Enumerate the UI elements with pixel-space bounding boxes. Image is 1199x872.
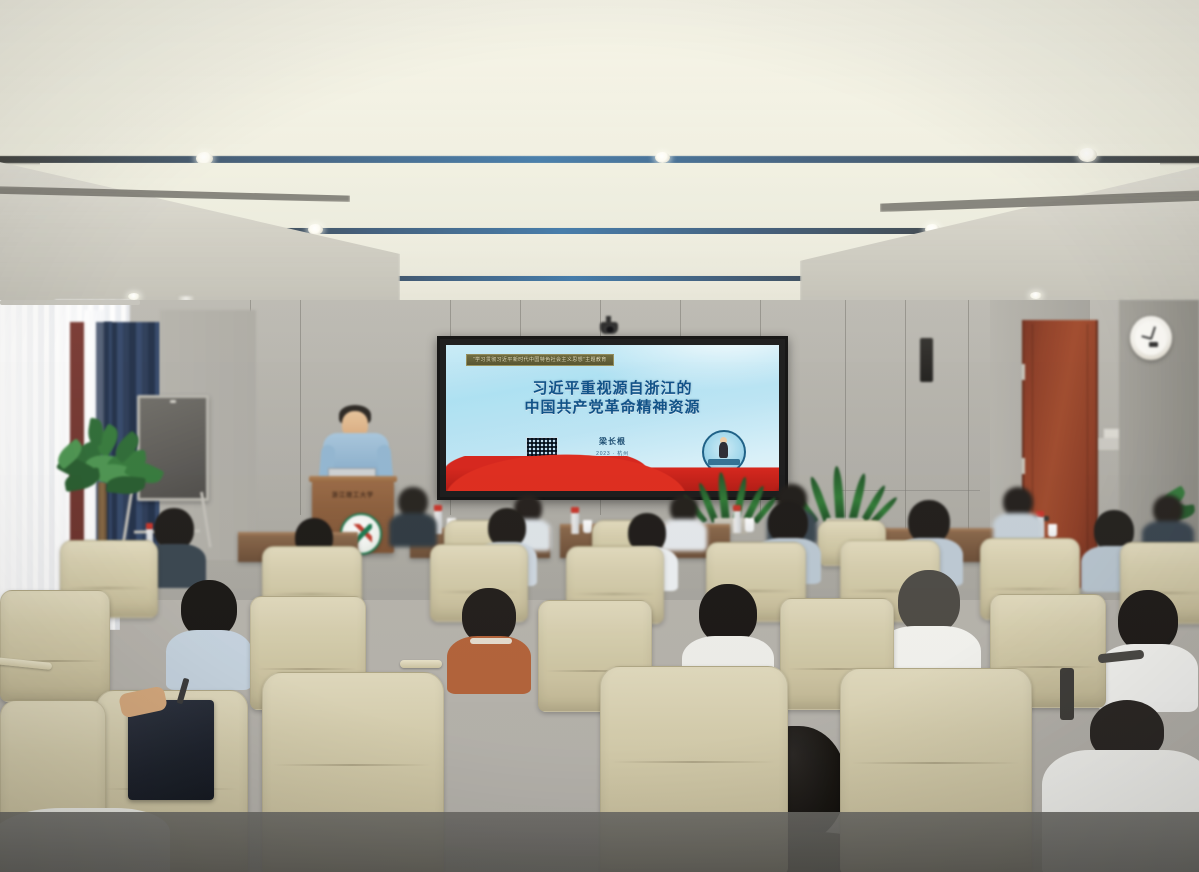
spotlight-11 xyxy=(128,293,140,300)
laptop-bag xyxy=(128,700,214,800)
slide-banner-text: “学习贯彻习近平新时代中国特色社会主义思想”主题教育 xyxy=(466,354,614,366)
spotlight-13 xyxy=(1030,292,1042,299)
paper-cup-4 xyxy=(1048,524,1057,537)
spotlight-3 xyxy=(1078,148,1097,162)
podium-institution-text: 浙江理工大学 xyxy=(312,490,394,499)
water-bottle-2 xyxy=(571,512,579,534)
wall-speaker xyxy=(920,338,933,382)
attendee-r3-4 xyxy=(888,570,970,676)
potted-plant-left xyxy=(46,400,166,510)
slide-title: 习近平重视源自浙江的 中国共产党革命精神资源 xyxy=(446,379,779,417)
attendee-r3-5 xyxy=(1108,590,1188,694)
slide-title-line-1: 习近平重视源自浙江的 xyxy=(446,379,779,398)
floor xyxy=(0,812,1199,872)
attendee-r1-5 xyxy=(996,487,1040,545)
paper-cup-3 xyxy=(745,518,754,532)
slide-title-line-2: 中国共产党革命精神资源 xyxy=(446,398,779,417)
attendee-r3-2 xyxy=(454,588,524,680)
spotlight-2 xyxy=(655,152,670,163)
chair-r3-0[interactable] xyxy=(0,590,108,700)
ceiling-beam-1 xyxy=(0,156,1199,163)
necklace xyxy=(470,638,512,644)
water-bottle-3 xyxy=(733,510,741,533)
chair-armrest-1 xyxy=(400,660,442,668)
attendee-r1-1 xyxy=(392,487,434,543)
photo-scene: “学习贯彻习近平新时代中国特色社会主义思想”主题教育 习近平重视源自浙江的 中国… xyxy=(0,0,1199,872)
paper-cup-2 xyxy=(583,520,592,533)
attendee-r3-1 xyxy=(172,580,246,676)
wall-clock xyxy=(1130,316,1172,360)
